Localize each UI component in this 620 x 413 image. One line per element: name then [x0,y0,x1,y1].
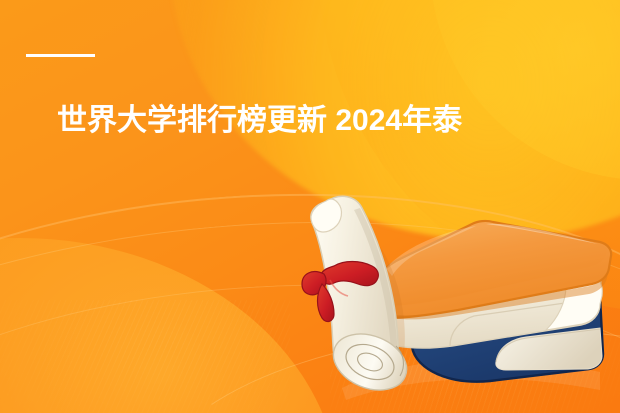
title-accent-rule [26,54,95,57]
diploma-and-books-illustration [300,176,620,413]
promo-banner: 世界大学排行榜更新 2024年泰 [0,0,620,413]
banner-title: 世界大学排行榜更新 2024年泰 [57,101,462,141]
background-hatch-lower-left [0,300,290,413]
